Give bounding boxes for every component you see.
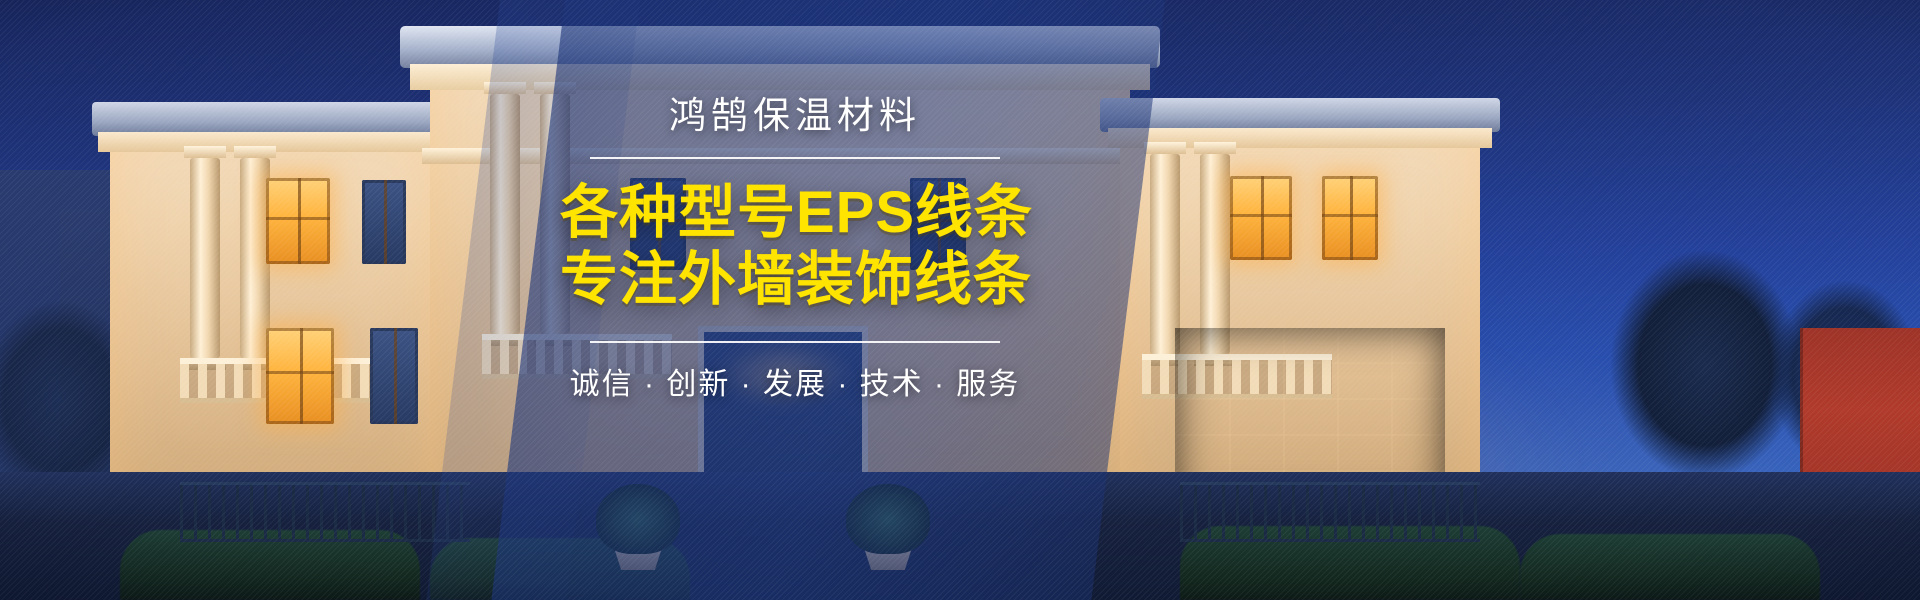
window-mullion (384, 180, 387, 264)
left-wing-cornice (98, 132, 454, 152)
column-right-1 (1150, 154, 1180, 354)
window-lit (1322, 176, 1378, 260)
window-dark (362, 180, 406, 264)
window-mullion (266, 217, 330, 220)
fence-railing (1180, 482, 1480, 542)
hero-banner: 鸿鹄保温材料 各种型号EPS线条 专注外墙装饰线条 诚信 · 创新 · 发展 ·… (0, 0, 1920, 600)
column-capital (1194, 142, 1236, 154)
column-capital (484, 82, 526, 94)
window-mullion (1322, 214, 1378, 217)
fence-railing (180, 482, 470, 542)
divider-line-bottom (590, 341, 1000, 343)
banner-copy: 鸿鹄保温材料 各种型号EPS线条 专注外墙装饰线条 诚信 · 创新 · 发展 ·… (560, 96, 1030, 403)
left-wing-roof (92, 102, 460, 136)
shrub (596, 484, 680, 554)
hedge (1520, 534, 1820, 600)
shrub (846, 484, 930, 554)
column-right-2 (1200, 154, 1230, 354)
window-mullion (298, 178, 301, 264)
center-roof (400, 26, 1160, 68)
window-mullion (266, 371, 334, 374)
spacer (560, 313, 1030, 341)
slogan: 诚信 · 创新 · 发展 · 技术 · 服务 (560, 359, 1030, 403)
column-capital (184, 146, 226, 158)
headline-line-2: 专注外墙装饰线条 (560, 248, 1030, 313)
column-capital (534, 82, 576, 94)
right-wing-roof (1100, 98, 1500, 132)
brand-name: 鸿鹄保温材料 (560, 96, 1030, 137)
window-mullion (1230, 214, 1292, 217)
column-capital (1144, 142, 1186, 154)
window-dark (370, 328, 418, 424)
headline-line-1: 各种型号EPS线条 (560, 181, 1030, 246)
window-lit (266, 178, 330, 264)
divider-line-top (590, 157, 1000, 159)
window-mullion (300, 328, 303, 424)
column-capital (234, 146, 276, 158)
column-left-1 (190, 158, 220, 358)
window-mullion (1261, 176, 1264, 260)
column-center-1 (490, 94, 520, 334)
window-mullion (1350, 176, 1353, 260)
window-lit (266, 328, 334, 424)
window-lit (1230, 176, 1292, 260)
window-mullion (394, 328, 397, 424)
